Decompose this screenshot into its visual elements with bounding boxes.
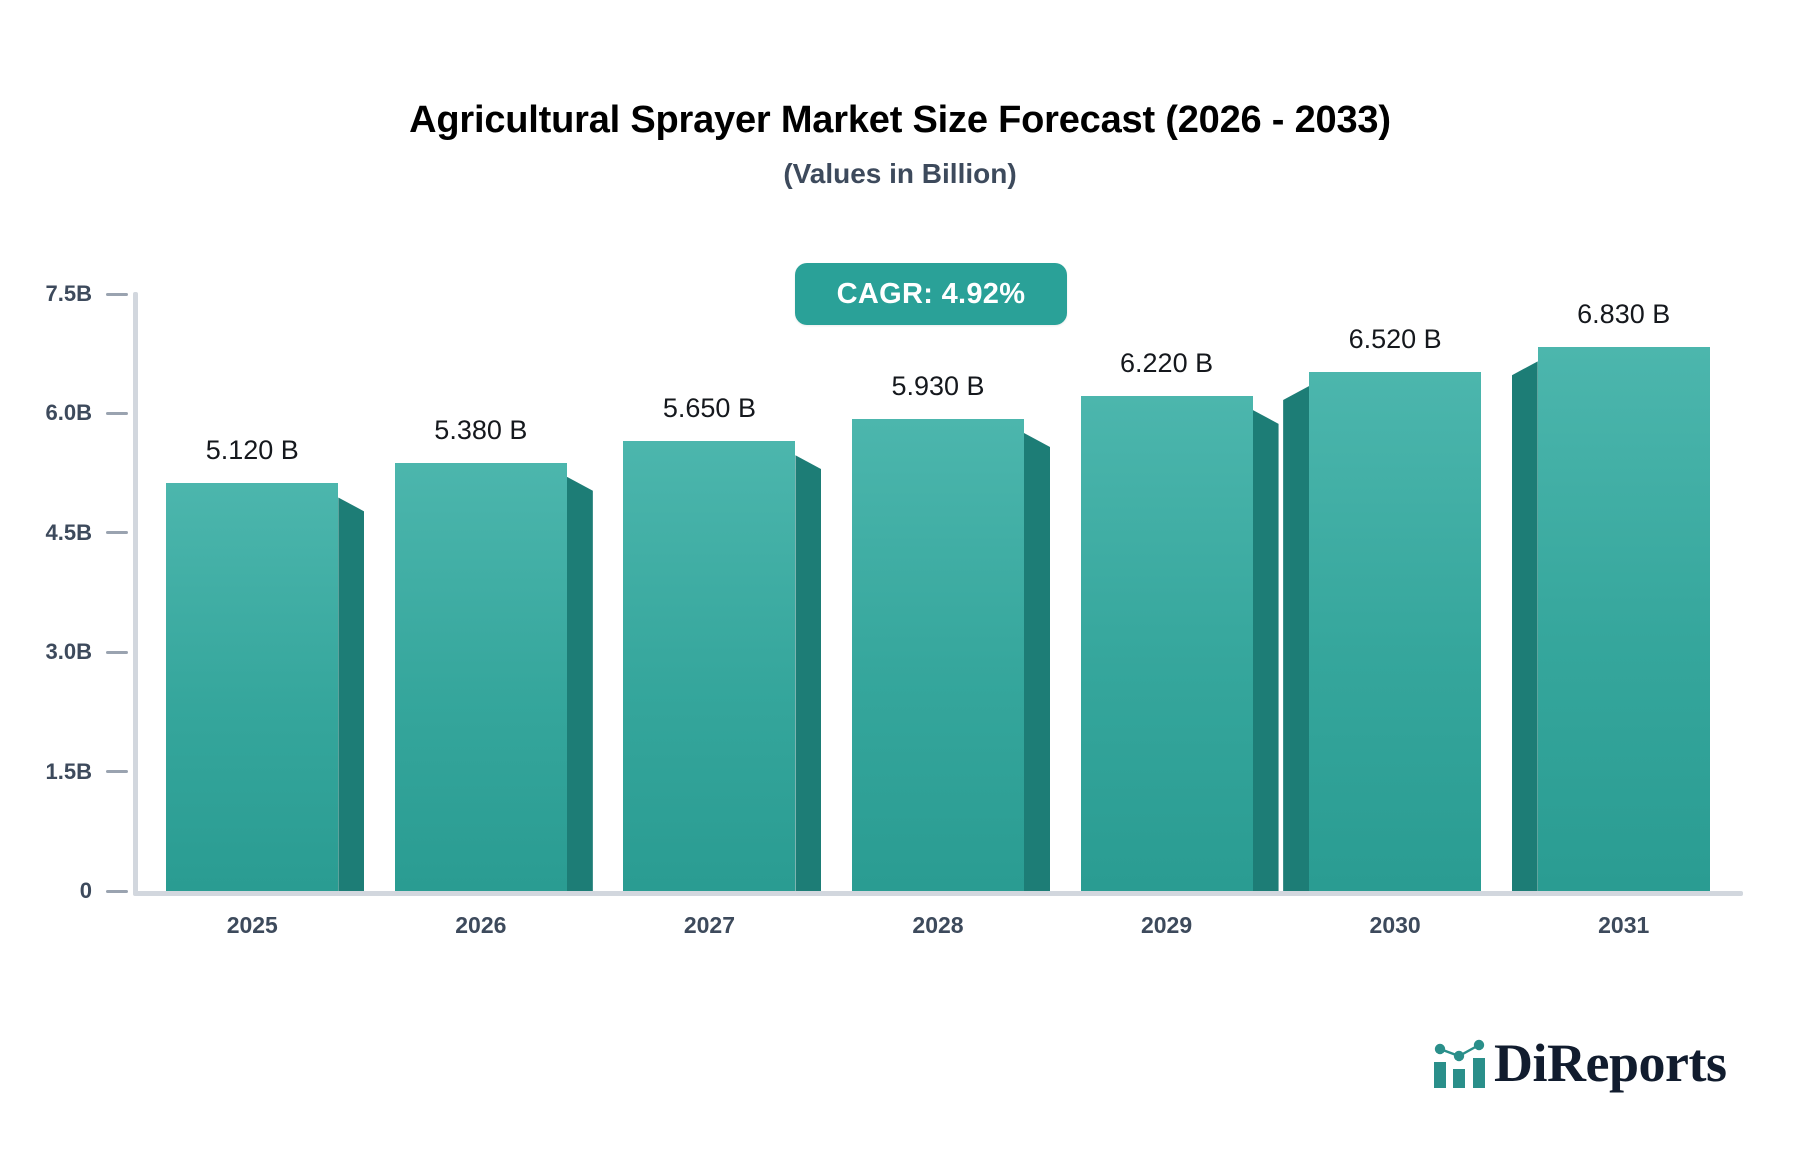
x-axis-label: 2027 (649, 912, 769, 939)
y-axis-tick: 3.0B (0, 642, 128, 662)
y-axis-tick-label: 7.5B (46, 281, 92, 307)
bar-side-face (338, 497, 364, 891)
bar[interactable] (623, 441, 795, 891)
bar-front-face (1538, 347, 1710, 891)
bar[interactable] (166, 483, 338, 891)
chart-container: Agricultural Sprayer Market Size Forecas… (0, 0, 1800, 1156)
y-axis-tick-label: 3.0B (46, 639, 92, 665)
y-axis-tick: 0 (0, 881, 128, 901)
y-axis-tick-mark (106, 890, 128, 893)
bar-chart-icon (1432, 1036, 1488, 1090)
bar-front-face (1081, 396, 1253, 891)
y-axis-tick-mark (106, 651, 128, 654)
bar[interactable] (1538, 347, 1710, 891)
bar[interactable] (1081, 396, 1253, 891)
bar-value-label: 5.650 B (663, 393, 756, 424)
bar-front-face (1309, 372, 1481, 891)
y-axis-tick: 4.5B (0, 523, 128, 543)
y-axis-tick-label: 0 (80, 878, 92, 904)
bar[interactable] (1309, 372, 1481, 891)
y-axis-tick: 6.0B (0, 403, 128, 423)
direports-logo: DiReports (1432, 1036, 1726, 1090)
y-axis-line (133, 292, 138, 895)
bar-side-face (795, 455, 821, 891)
x-axis-label: 2025 (192, 912, 312, 939)
y-axis-tick: 1.5B (0, 762, 128, 782)
x-axis-label: 2029 (1107, 912, 1227, 939)
y-axis-tick-mark (106, 770, 128, 773)
bar-value-label: 6.830 B (1577, 299, 1670, 330)
y-axis-tick-label: 6.0B (46, 400, 92, 426)
x-axis-label: 2028 (878, 912, 998, 939)
bar-front-face (166, 483, 338, 891)
bar-value-label: 6.220 B (1120, 348, 1213, 379)
bar-side-face (1512, 361, 1538, 891)
x-axis-label: 2030 (1335, 912, 1455, 939)
bar-front-face (852, 419, 1024, 891)
y-axis-tick-mark (106, 531, 128, 534)
bar-value-label: 5.120 B (206, 435, 299, 466)
bar[interactable] (395, 463, 567, 891)
bar-side-face (567, 477, 593, 891)
bar-side-face (1283, 386, 1309, 891)
bar-value-label: 5.930 B (891, 371, 984, 402)
y-axis-tick-label: 4.5B (46, 520, 92, 546)
bar-front-face (395, 463, 567, 891)
x-axis-label: 2031 (1564, 912, 1684, 939)
bar-value-label: 6.520 B (1349, 324, 1442, 355)
y-axis-tick-label: 1.5B (46, 759, 92, 785)
bar-value-label: 5.380 B (434, 415, 527, 446)
bar[interactable] (852, 419, 1024, 891)
bar-side-face (1024, 433, 1050, 891)
x-axis-line (133, 891, 1743, 896)
y-axis-tick-mark (106, 412, 128, 415)
logo-text: DiReports (1494, 1036, 1726, 1090)
x-axis-label: 2026 (421, 912, 541, 939)
bar-front-face (623, 441, 795, 891)
plot-area: 7.5B6.0B4.5B3.0B1.5B0 5.120 B5.380 B5.65… (0, 0, 1800, 1156)
bar-side-face (1253, 410, 1279, 891)
y-axis-tick: 7.5B (0, 284, 128, 304)
y-axis-tick-mark (106, 293, 128, 296)
